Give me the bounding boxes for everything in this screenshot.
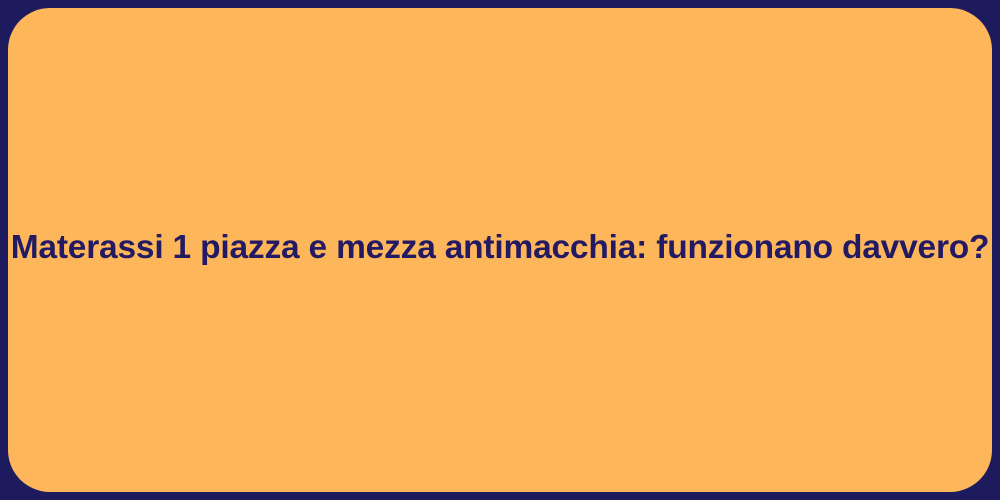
banner-frame: Materassi 1 piazza e mezza antimacchia: …	[0, 0, 1000, 500]
banner-title: Materassi 1 piazza e mezza antimacchia: …	[11, 227, 990, 269]
banner-panel: Materassi 1 piazza e mezza antimacchia: …	[8, 8, 992, 492]
